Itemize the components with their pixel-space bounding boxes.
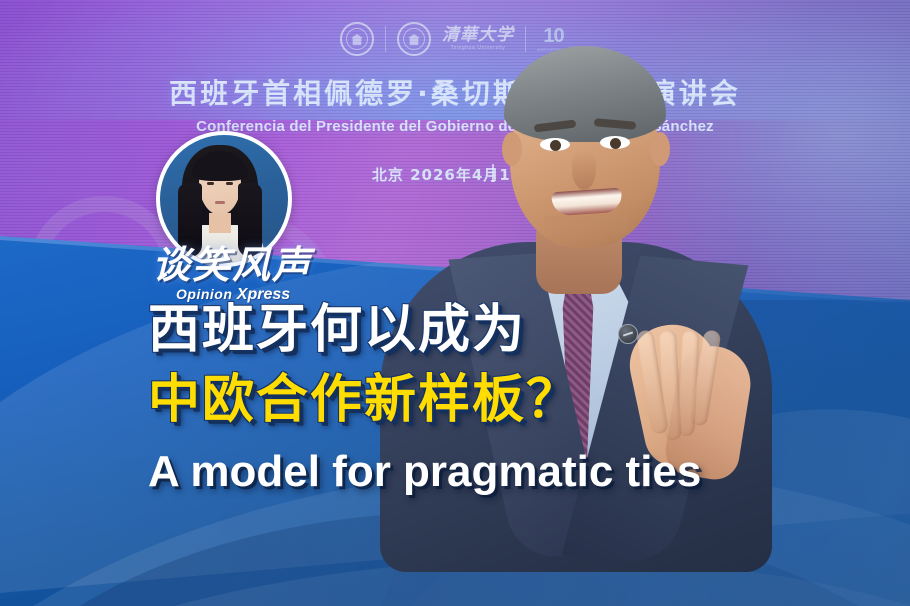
subject-nose (572, 150, 596, 190)
subject-chin (544, 216, 628, 244)
headline-line-2: 中欧合作新样板？ (148, 374, 580, 426)
subject-hair (504, 46, 666, 142)
avatar-mouth (215, 201, 225, 204)
lapel-pin-icon (618, 324, 638, 344)
university-emblem-icon (340, 22, 374, 56)
program-logo-cn: 谈笑风声 (152, 246, 352, 284)
subject-ear-right (650, 132, 670, 166)
avatar-eye-right (226, 182, 233, 185)
logo-divider (385, 26, 386, 52)
headline-line-1: 西班牙何以成为 (148, 304, 526, 356)
subject-pupil-left (550, 140, 561, 151)
subject-fingers (644, 330, 714, 440)
subject-pupil-right (610, 138, 621, 149)
thumbnail-canvas: 清華大学 Tsinghua University 10 ANNIVERSARY … (0, 0, 910, 606)
avatar-eye-left (207, 182, 214, 185)
subject-ear-left (502, 132, 522, 166)
program-logo: 谈笑风声 Opinion Xpress (152, 246, 352, 308)
avatar-neck (209, 213, 231, 233)
headline-line-3-en: A model for pragmatic ties (148, 450, 701, 494)
